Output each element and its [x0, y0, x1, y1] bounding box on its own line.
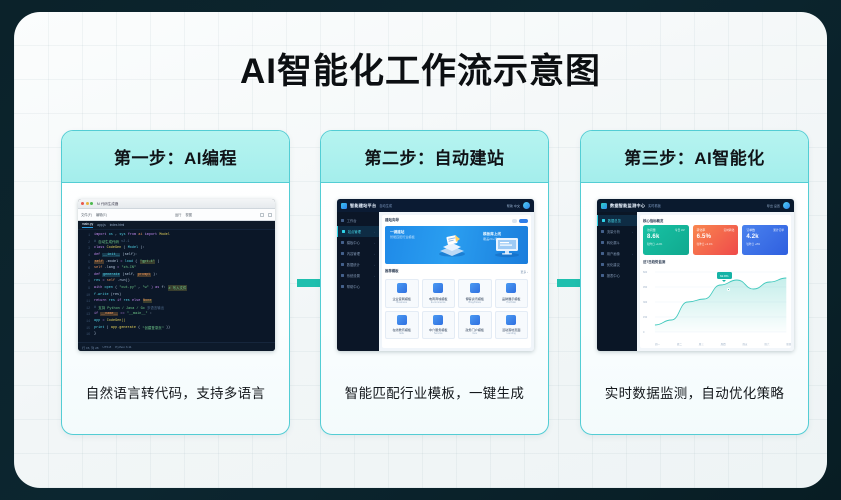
- line-number: 13: [81, 312, 90, 316]
- ide-tab-bar: main.py app.js index.html: [78, 221, 275, 230]
- analytics-main: 数据总览流量分析›转化漏斗用户画像›优化建议报表中心 核心指标概览 今日 UV访…: [597, 212, 794, 351]
- portal-toggle-on[interactable]: [519, 219, 528, 223]
- code-line: 1importos,sysfromaiimportModel: [78, 232, 275, 239]
- template-icon: [470, 283, 480, 293]
- chart-x-tick: 周四: [721, 342, 726, 346]
- stat-key: 订单数: [746, 228, 784, 232]
- line-number: 14: [81, 319, 90, 323]
- portal-sidebar-item-label: 工作台: [347, 218, 357, 223]
- line-number: 12: [81, 306, 90, 310]
- analytics-sidebar-item-label: 用户画像: [607, 251, 620, 256]
- step-card-3: 第三步：AI智能化 数据智能监测中心 实时看板 导出 设置 数据总览流量分析›转…: [580, 130, 809, 435]
- chart-y-tick: 450: [643, 286, 647, 289]
- code-token: "gpt-4": [140, 260, 156, 264]
- analytics-topbar: 数据智能监测中心 实时看板 导出 设置: [597, 199, 794, 212]
- code-token: def: [94, 253, 100, 257]
- portal-main: 工作台站点管理›模板中心›内容管理›数据统计›系统设置›帮助中心 建站向导: [337, 212, 534, 351]
- analytics-topbar-actions[interactable]: 导出 设置: [767, 203, 780, 208]
- avatar[interactable]: [783, 202, 790, 209]
- step-2-caption: 智能匹配行业模板，一键生成: [321, 349, 548, 434]
- chart-x-tick: 周六: [764, 342, 769, 346]
- code-token: CodeGen: [107, 246, 122, 250]
- menu-icon: [341, 274, 344, 277]
- chart-x-tick: 周五: [743, 342, 748, 346]
- portal-sidebar-item-0[interactable]: 工作台: [337, 215, 379, 226]
- code-line: 10f.write(res): [78, 291, 275, 298]
- code-token: (: [138, 326, 140, 330]
- code-token: "w": [143, 286, 149, 290]
- code-token: .model: [106, 260, 119, 264]
- portal-toggle-off[interactable]: [512, 219, 517, 223]
- step-card-1: 第一步：AI编程 AI 代码生成器 文件(F) 编辑(E) 运行: [61, 130, 290, 435]
- chevron-right-icon: ›: [374, 241, 375, 245]
- code-token: .lang: [105, 266, 115, 270]
- code-token: ):: [153, 273, 157, 277]
- code-line: 9withopen("out.py","w") asf:# 写入文件: [78, 285, 275, 292]
- portal-sidebar: 工作台站点管理›模板中心›内容管理›数据统计›系统设置›帮助中心: [337, 212, 379, 351]
- step-3-caption: 实时数据监测，自动优化策略: [581, 349, 808, 434]
- analytics-sidebar-item-label: 转化漏斗: [607, 240, 620, 245]
- code-line: 2#自动生成代码v2.1: [78, 239, 275, 246]
- line-number: 1: [81, 233, 90, 237]
- code-token: with: [94, 286, 102, 290]
- code-token: 支持 Python / Java / Go: [98, 305, 145, 311]
- menu-icon: [341, 263, 344, 266]
- step-2-caption-label: 智能匹配行业模板，一键生成: [345, 382, 524, 402]
- analytics-brand-sub: 实时看板: [648, 203, 661, 208]
- portal-template-tile-0[interactable]: 企业官网模板Business: [385, 279, 419, 308]
- chevron-right-icon: ›: [632, 230, 633, 234]
- code-token: if: [94, 312, 98, 316]
- ide-menu-view[interactable]: 视图: [185, 212, 192, 217]
- code-token: __name__: [100, 312, 118, 316]
- outer-frame: AI智能化工作流示意图 第一步：AI编程 AI 代码生成器 文件(F) 编辑(E…: [0, 0, 841, 500]
- menu-icon: [601, 263, 604, 266]
- chevron-right-icon: ›: [374, 263, 375, 267]
- menu-icon: [602, 219, 605, 222]
- code-token: else: [132, 299, 140, 303]
- analytics-content: 核心指标概览 今日 UV访问量8.6k较昨日 +12%实时转化转化率6.5%较昨…: [637, 212, 794, 351]
- ide-tab-app[interactable]: app.js: [97, 223, 106, 227]
- menu-icon: [601, 252, 604, 255]
- code-line: 15print(app.generate("创建登录页")): [78, 324, 275, 331]
- code-line: 14app=CodeGen(): [78, 318, 275, 325]
- portal-tile-sub: Landing: [497, 332, 527, 335]
- code-line: 5self.model=load("gpt-4"): [78, 258, 275, 265]
- code-token: #: [94, 240, 96, 244]
- stat-delta: 较昨日 +8%: [746, 242, 784, 246]
- code-token: res: [109, 299, 115, 303]
- portal-panel-title: 建站向导: [385, 218, 399, 223]
- menu-icon: [342, 230, 345, 233]
- code-token: # 写入文件: [168, 285, 187, 291]
- stat-value: 4.2k: [746, 234, 784, 240]
- ide-window: AI 代码生成器 文件(F) 编辑(E) 运行 视图 main.py: [78, 199, 275, 351]
- line-number: 11: [81, 299, 90, 303]
- ide-menu-edit[interactable]: 编辑(E): [96, 212, 107, 217]
- portal-tile-sub: Gov: [460, 332, 490, 335]
- chart-highlight-point: [727, 288, 730, 291]
- analytics-sidebar-item-4[interactable]: 优化建议: [597, 259, 637, 270]
- line-number: 16: [81, 332, 90, 336]
- template-icon: [433, 283, 443, 293]
- code-line: 7defgenerate(self,prompt):: [78, 272, 275, 279]
- code-line: 8res=self.run(): [78, 278, 275, 285]
- template-icon: [470, 315, 480, 325]
- code-token: (: [123, 246, 125, 250]
- portal-banner[interactable]: 一键建站 智能匹配行业模板 模板库上线 覆盖20+行业: [385, 226, 528, 264]
- code-token: "out.py": [119, 286, 136, 290]
- analytics-sidebar-item-0[interactable]: 数据总览: [597, 215, 637, 226]
- menu-icon: [341, 285, 344, 288]
- chart-tooltip: 62.8%: [717, 272, 732, 279]
- code-token: "zh-CN": [121, 266, 136, 270]
- code-token: self: [94, 260, 104, 264]
- code-token: }: [94, 332, 96, 336]
- analytics-sidebar: 数据总览流量分析›转化漏斗用户画像›优化建议报表中心: [597, 212, 637, 351]
- portal-sidebar-item-3[interactable]: 内容管理›: [337, 248, 379, 259]
- step-1-caption: 自然语言转代码，支持多语言: [62, 349, 289, 434]
- analytics-panel: 核心指标概览 今日 UV访问量8.6k较昨日 +12%实时转化转化率6.5%较昨…: [640, 215, 791, 348]
- portal-brand: 智能建站平台: [350, 203, 376, 209]
- code-token: import: [94, 233, 107, 237]
- portal-template-tile-5[interactable]: 中介服务模板Service: [422, 311, 456, 340]
- analytics-sidebar-item-5[interactable]: 报表中心: [597, 270, 637, 281]
- code-token: ):: [140, 246, 144, 250]
- code-token: load: [125, 260, 133, 264]
- analytics-sidebar-item-3[interactable]: 用户画像›: [597, 248, 637, 259]
- portal-sidebar-item-label: 帮助中心: [347, 284, 360, 289]
- portal-sidebar-item-label: 系统设置: [347, 273, 360, 278]
- code-line: 3classCodeGen(Model):: [78, 245, 275, 252]
- portal-template-tile-3[interactable]: 品牌展示模板Portfolio: [495, 279, 529, 308]
- chevron-right-icon: ›: [374, 230, 375, 234]
- code-token: prompt: [137, 273, 151, 277]
- close-icon[interactable]: [81, 202, 84, 205]
- chart-x-tick: 周二: [677, 342, 682, 346]
- code-line: 16}: [78, 331, 275, 338]
- portal-sidebar-item-6[interactable]: 帮助中心: [337, 281, 379, 292]
- analytics-chart-title: 近7日趋势监测: [643, 259, 788, 264]
- analytics-sidebar-item-label: 数据总览: [608, 218, 621, 223]
- page-title: AI智能化工作流示意图: [14, 43, 827, 94]
- step-2-screenshot: 智能建站平台 自动生成 帮助 中文 工作台站点管理›模板中心›内容管理›数据统计…: [337, 199, 534, 351]
- code-token: 多语言输出: [147, 305, 164, 311]
- chart-x-tick: 周三: [699, 342, 704, 346]
- chevron-right-icon: ›: [374, 252, 375, 256]
- code-token: "创建登录页": [142, 325, 163, 331]
- maximize-icon[interactable]: [90, 202, 93, 205]
- line-number: 5: [81, 260, 90, 264]
- ide-toolbar: 文件(F) 编辑(E) 运行 视图: [78, 209, 275, 221]
- template-icon: [433, 315, 443, 325]
- code-token: )): [166, 326, 170, 330]
- presentation-board: AI智能化工作流示意图 第一步：AI编程 AI 代码生成器 文件(F) 编辑(E…: [14, 12, 827, 488]
- code-token: 自动生成代码: [98, 239, 119, 245]
- minimize-icon[interactable]: [86, 202, 89, 205]
- chart-x-tick: 周日: [786, 342, 791, 346]
- code-token: import: [145, 233, 158, 237]
- code-token: f.write: [94, 293, 109, 297]
- line-number: 3: [81, 246, 90, 250]
- step-3-header-label: 第三步：AI智能化: [624, 144, 765, 169]
- code-token: def: [94, 273, 100, 277]
- step-1-caption-label: 自然语言转代码，支持多语言: [86, 382, 265, 402]
- template-icon: [397, 283, 407, 293]
- code-token: None: [143, 299, 153, 303]
- step-card-2: 第二步：自动建站 智能建站平台 自动生成 帮助 中文 工作台站点管理›模板中心›…: [320, 130, 549, 435]
- code-token: CodeGen(): [107, 319, 126, 323]
- stat-delta: 较昨日 +3.1%: [697, 242, 735, 246]
- analytics-sidebar-item-label: 报表中心: [607, 273, 620, 278]
- code-token: from: [128, 233, 136, 237]
- portal-topbar-actions[interactable]: 帮助 中文: [507, 203, 520, 208]
- portal-template-tile-4[interactable]: 在线教育模板Edu: [385, 311, 419, 340]
- portal-panel: 建站向导 一键建站 智能匹配行业模板: [382, 215, 531, 348]
- analytics-sidebar-item-label: 优化建议: [607, 262, 620, 267]
- code-token: ==: [120, 312, 124, 316]
- code-token: res: [124, 299, 130, 303]
- code-token: (self,: [123, 273, 136, 277]
- code-token: (: [107, 326, 109, 330]
- analytics-stat-card-1[interactable]: 实时转化转化率6.5%较昨日 +3.1%: [693, 225, 739, 255]
- portal-section-header: 推荐模板 更多 ›: [385, 268, 528, 276]
- chart-y-tick: 150: [643, 316, 647, 319]
- portal-sidebar-item-label: 内容管理: [347, 251, 360, 256]
- line-number: 8: [81, 279, 90, 283]
- code-token: =: [102, 319, 104, 323]
- portal-tile-sub: Edu: [387, 332, 417, 335]
- code-token: =: [102, 279, 104, 283]
- code-token: sys: [119, 233, 125, 237]
- chart-y-tick: 600: [643, 271, 647, 274]
- ide-menu-file[interactable]: 文件(F): [81, 212, 92, 217]
- code-token: :: [150, 312, 152, 316]
- ide-tab-main[interactable]: main.py: [82, 222, 93, 228]
- portal-sidebar-item-2[interactable]: 模板中心›: [337, 237, 379, 248]
- code-token: =: [120, 260, 122, 264]
- code-token: Model: [159, 233, 169, 237]
- template-icon: [506, 315, 516, 325]
- portal-tile-sub: Service: [424, 332, 454, 335]
- portal-sidebar-item-1[interactable]: 站点管理›: [337, 226, 379, 237]
- code-token: __init__: [102, 253, 120, 257]
- analytics-brand: 数据智能监测中心: [610, 203, 645, 209]
- menu-icon: [341, 252, 344, 255]
- chart-x-tick: 周一: [655, 342, 660, 346]
- portal-template-tile-6[interactable]: 政务门户模板Gov: [458, 311, 492, 340]
- analytics-stat-card-0[interactable]: 今日 UV访问量8.6k较昨日 +12%: [643, 225, 689, 255]
- code-token: res: [94, 279, 100, 283]
- portal-panel-header: 建站向导: [385, 218, 528, 223]
- code-line: 12#支持 Python / Java / Go多语言输出: [78, 305, 275, 312]
- code-token: (: [115, 286, 117, 290]
- code-token: (: [135, 260, 137, 264]
- portal-sidebar-item-label: 站点管理: [348, 229, 361, 234]
- portal-sidebar-item-label: 数据统计: [347, 262, 360, 267]
- code-token: .run(): [117, 279, 130, 283]
- chevron-right-icon: ›: [374, 274, 375, 278]
- portal-logo-icon: [341, 203, 347, 209]
- code-token: #: [94, 306, 96, 310]
- chevron-right-icon: ›: [632, 252, 633, 256]
- code-token: (res): [111, 293, 121, 297]
- analytics-chart[interactable]: 62.8% 6004503001500 周一周二周三周四周五周六周日: [643, 266, 788, 346]
- step-3-header: 第三步：AI智能化: [581, 131, 808, 183]
- portal-template-tile-1[interactable]: 电商商城模板E-commerce: [422, 279, 456, 308]
- template-icon: [397, 315, 407, 325]
- documents-illustration-icon: [437, 233, 467, 258]
- portal-tile-sub: E-commerce: [424, 301, 454, 304]
- code-token: self: [107, 279, 115, 283]
- stat-value: 8.6k: [647, 234, 685, 240]
- code-token: ,: [115, 233, 117, 237]
- code-token: (self):: [123, 253, 138, 257]
- stat-delta: 较昨日 +12%: [647, 242, 685, 246]
- portal-sidebar-item-5[interactable]: 系统设置›: [337, 270, 379, 281]
- ide-titlebar: AI 代码生成器: [78, 199, 275, 209]
- analytics-sidebar-item-label: 流量分析: [607, 229, 620, 234]
- analytics-stat-card-2[interactable]: 累计订单订单数4.2k较昨日 +8%: [742, 225, 788, 255]
- avatar[interactable]: [523, 202, 530, 209]
- line-number: 9: [81, 286, 90, 290]
- portal-template-tile-7[interactable]: 活动落地页面Landing: [495, 311, 529, 340]
- portal-sidebar-item-label: 模板中心: [347, 240, 360, 245]
- line-number: 15: [81, 326, 90, 330]
- minimize-icon[interactable]: [260, 213, 264, 217]
- ide-window-title: AI 代码生成器: [97, 201, 273, 206]
- step-1-header-label: 第一步：AI编程: [114, 144, 237, 169]
- portal-tile-sub: Blog/News: [460, 301, 490, 304]
- code-token: self: [94, 266, 102, 270]
- portal-topbar: 智能建站平台 自动生成 帮助 中文: [337, 199, 534, 212]
- portal-tile-sub: Portfolio: [497, 301, 527, 304]
- analytics-logo-icon: [601, 203, 607, 209]
- code-token: return: [94, 299, 107, 303]
- analytics-sidebar-item-2[interactable]: 转化漏斗: [597, 237, 637, 248]
- line-number: 10: [81, 293, 90, 297]
- code-token: Model: [128, 246, 138, 250]
- code-token: v2.1: [121, 240, 129, 244]
- portal-template-tile-2[interactable]: 博客资讯模板Blog/News: [458, 279, 492, 308]
- stat-key: 转化率: [697, 228, 735, 232]
- ide-code-area[interactable]: 1importos,sysfromaiimportModel2#自动生成代码v2…: [78, 230, 275, 342]
- menu-icon: [341, 241, 344, 244]
- ide-menu-run[interactable]: 运行: [175, 212, 182, 217]
- code-token: =: [117, 266, 119, 270]
- portal-content: 建站向导 一键建站 智能匹配行业模板: [379, 212, 534, 351]
- line-number: 2: [81, 240, 90, 244]
- chart-y-tick: 300: [643, 301, 647, 304]
- portal-dashboard: 智能建站平台 自动生成 帮助 中文 工作台站点管理›模板中心›内容管理›数据统计…: [337, 199, 534, 351]
- template-icon: [506, 283, 516, 293]
- portal-template-grid: 企业官网模板Business电商商城模板E-commerce博客资讯模板Blog…: [385, 279, 528, 339]
- code-token: app.generate: [111, 326, 136, 330]
- code-token: class: [94, 246, 104, 250]
- code-token: ) as: [151, 286, 159, 290]
- analytics-dashboard: 数据智能监测中心 实时看板 导出 设置 数据总览流量分析›转化漏斗用户画像›优化…: [597, 199, 794, 351]
- analytics-sidebar-item-1[interactable]: 流量分析›: [597, 226, 637, 237]
- code-token: if: [117, 299, 121, 303]
- code-line: 4def__init__(self):: [78, 252, 275, 259]
- portal-brand-sub: 自动生成: [379, 203, 392, 208]
- stat-value: 6.5%: [697, 234, 735, 240]
- step-1-screenshot: AI 代码生成器 文件(F) 编辑(E) 运行 视图 main.py: [78, 199, 275, 351]
- maximize-icon[interactable]: [268, 213, 272, 217]
- portal-section-title: 推荐模板: [385, 268, 399, 273]
- chart-y-tick: 0: [643, 331, 644, 334]
- line-number: 6: [81, 266, 90, 270]
- menu-icon: [601, 230, 604, 233]
- code-token: app: [94, 319, 100, 323]
- code-token: ): [157, 260, 159, 264]
- code-token: f:: [161, 286, 165, 290]
- code-token: ai: [138, 233, 142, 237]
- step-3-caption-label: 实时数据监测，自动优化策略: [605, 382, 784, 402]
- step-2-header-label: 第二步：自动建站: [365, 144, 505, 169]
- menu-icon: [341, 219, 344, 222]
- portal-section-more[interactable]: 更多 ›: [520, 270, 528, 274]
- code-token: "__main__": [127, 312, 148, 316]
- step-2-header: 第二步：自动建站: [321, 131, 548, 183]
- code-token: print: [94, 326, 104, 330]
- code-token: generate: [102, 273, 120, 277]
- analytics-stats-title: 核心指标概览: [643, 218, 788, 223]
- analytics-stat-cards: 今日 UV访问量8.6k较昨日 +12%实时转化转化率6.5%较昨日 +3.1%…: [643, 225, 788, 255]
- code-line: 6self.lang="zh-CN": [78, 265, 275, 272]
- monitor-illustration-icon: [492, 233, 522, 258]
- step-1-header: 第一步：AI编程: [62, 131, 289, 183]
- stat-key: 访问量: [647, 228, 685, 232]
- code-line: 11returnresifreselseNone: [78, 298, 275, 305]
- chart-svg: [643, 266, 788, 342]
- code-line: 13if__name__=="__main__":: [78, 311, 275, 318]
- line-number: 4: [81, 253, 90, 257]
- ide-tab-index[interactable]: index.html: [110, 223, 125, 227]
- code-token: ,: [138, 286, 140, 290]
- portal-tile-sub: Business: [387, 301, 417, 304]
- code-token: os: [109, 233, 113, 237]
- portal-sidebar-item-4[interactable]: 数据统计›: [337, 259, 379, 270]
- menu-icon: [601, 241, 604, 244]
- step-3-screenshot: 数据智能监测中心 实时看板 导出 设置 数据总览流量分析›转化漏斗用户画像›优化…: [597, 199, 794, 351]
- menu-icon: [601, 274, 604, 277]
- line-number: 7: [81, 273, 90, 277]
- code-token: open: [105, 286, 113, 290]
